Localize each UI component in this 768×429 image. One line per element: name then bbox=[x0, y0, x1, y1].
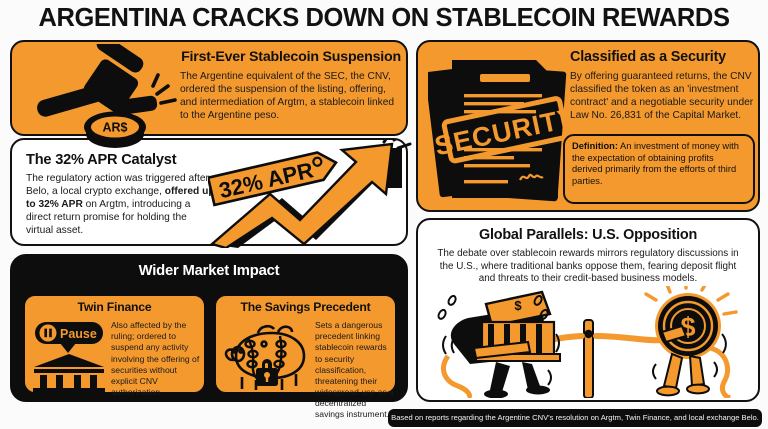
infographic-canvas: ARGENTINA CRACKS DOWN ON STABLECOIN REWA… bbox=[0, 0, 768, 429]
bank-pause-icon: Pause bbox=[30, 320, 108, 392]
panel-global-parallels: Global Parallels: U.S. Opposition The de… bbox=[416, 218, 760, 402]
global-heading: Global Parallels: U.S. Opposition bbox=[418, 228, 758, 244]
apr-heading: The 32% APR Catalyst bbox=[26, 152, 216, 168]
twin-finance-body: Also affected by the ruling; ordered to … bbox=[111, 320, 203, 398]
twin-finance-text: Also affected by the ruling; ordered to … bbox=[111, 320, 203, 398]
security-heading: Classified as a Security bbox=[570, 50, 754, 66]
suspension-heading: First-Ever Stablecoin Suspension bbox=[180, 50, 402, 66]
stamped-documents-icon: SECURITY bbox=[428, 52, 576, 207]
panel-classified-as-security: SECURITY Classified as a Security By off… bbox=[416, 40, 760, 212]
suspension-body: The Argentine equivalent of the SEC, the… bbox=[180, 70, 402, 122]
savings-precedent-text: Sets a dangerous precedent linking stabl… bbox=[315, 320, 395, 421]
definition-label: Definition: bbox=[572, 141, 618, 151]
definition-box: Definition: An investment of money with … bbox=[563, 134, 755, 204]
market-impact-heading: Wider Market Impact bbox=[12, 263, 406, 279]
apr-body: The regulatory action was triggered afte… bbox=[26, 172, 216, 237]
panel-stablecoin-suspension: First-Ever Stablecoin Suspension The Arg… bbox=[10, 40, 408, 136]
savings-precedent-body: Sets a dangerous precedent linking stabl… bbox=[315, 320, 395, 421]
global-body: The debate over stablecoin rewards mirro… bbox=[418, 244, 758, 286]
footer-text: Based on reports regarding the Argentine… bbox=[388, 409, 762, 427]
savings-precedent-heading: The Savings Precedent bbox=[216, 300, 395, 314]
security-body: By offering guaranteed returns, the CNV … bbox=[570, 70, 754, 122]
pause-badge-label: Pause bbox=[60, 327, 97, 341]
apr-text-block: The 32% APR Catalyst The regulatory acti… bbox=[26, 152, 216, 237]
panel-apr-catalyst: The 32% APR Catalyst The regulatory acti… bbox=[10, 138, 408, 246]
twin-finance-heading: Twin Finance bbox=[25, 300, 204, 314]
card-twin-finance: Twin Finance Pause bbox=[23, 294, 206, 394]
security-text-block: Classified as a Security By offering gua… bbox=[570, 50, 754, 122]
suspension-text-block: First-Ever Stablecoin Suspension The Arg… bbox=[180, 50, 402, 122]
ars-coin-icon: AR$ bbox=[82, 104, 148, 150]
rising-arrow-icon: 32% APR bbox=[208, 140, 413, 248]
svg-text:$: $ bbox=[514, 298, 522, 313]
card-savings-precedent: The Savings Precedent bbox=[214, 294, 397, 394]
footer-source-bar: Based on reports regarding the Argentine… bbox=[388, 409, 762, 427]
definition-text: Definition: An investment of money with … bbox=[565, 136, 753, 192]
page-title: ARGENTINA CRACKS DOWN ON STABLECOIN REWA… bbox=[0, 4, 768, 33]
panel-wider-market-impact: Wider Market Impact Twin Finance bbox=[10, 254, 408, 402]
ars-coin-label: AR$ bbox=[102, 121, 127, 135]
chained-piggy-bank-icon bbox=[220, 320, 312, 394]
tug-of-war-bank-vs-coin-icon: $ bbox=[424, 286, 756, 398]
